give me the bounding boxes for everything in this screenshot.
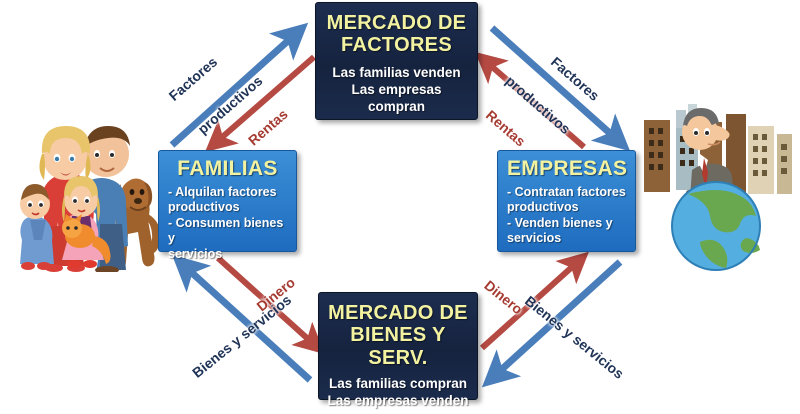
flow-label-line1: Dinero xyxy=(254,275,298,314)
flow-label-line1: Factores xyxy=(531,40,601,104)
node-title-line2: FACTORES xyxy=(341,34,452,56)
node-body-line2: productivos xyxy=(507,200,626,216)
node-body-line2: Las empresas compran xyxy=(322,82,471,116)
flow-label-line1: Factores xyxy=(167,40,237,104)
node-title: EMPRESAS xyxy=(507,157,626,181)
node-body-line4: servicios xyxy=(507,231,626,247)
node-body: Las familias compran Las empresas venden xyxy=(325,376,471,410)
node-title: MERCADO DE BIENES Y SERV. xyxy=(325,302,471,369)
node-body-line3: - Consumen bienes y xyxy=(168,216,287,247)
node-body-line1: Las familias compran xyxy=(325,376,471,393)
node-title: MERCADO DE FACTORES xyxy=(322,12,471,57)
flow-label-line1: Dinero xyxy=(481,278,525,317)
circular-flow-diagram: MERCADO DE FACTORES Las familias venden … xyxy=(0,0,800,414)
node-body: - Alquilan factores productivos - Consum… xyxy=(168,185,287,263)
node-mercado-de-bienes-y-servicios[interactable]: MERCADO DE BIENES Y SERV. Las familias c… xyxy=(318,292,478,400)
node-title-line1: MERCADO DE xyxy=(327,12,467,34)
flow-label-line1: Rentas xyxy=(246,107,291,149)
node-body-line1: - Alquilan factores xyxy=(168,185,287,201)
node-body: Las familias venden Las empresas compran xyxy=(322,65,471,116)
node-mercado-de-factores[interactable]: MERCADO DE FACTORES Las familias venden … xyxy=(315,2,478,120)
node-body-line2: Las empresas venden xyxy=(325,393,471,410)
node-title-line1: MERCADO DE xyxy=(328,302,468,324)
node-body-line2: productivos xyxy=(168,200,287,216)
flow-label-line1: Rentas xyxy=(483,108,528,150)
node-empresas[interactable]: EMPRESAS - Contratan factores productivo… xyxy=(497,150,636,252)
node-body: - Contratan factores productivos - Vende… xyxy=(507,185,626,248)
node-body-line3: - Venden bienes y xyxy=(507,216,626,232)
node-body-line1: Las familias venden xyxy=(322,65,471,82)
node-title-line2: BIENES Y SERV. xyxy=(350,324,445,368)
node-body-line1: - Contratan factores xyxy=(507,185,626,201)
